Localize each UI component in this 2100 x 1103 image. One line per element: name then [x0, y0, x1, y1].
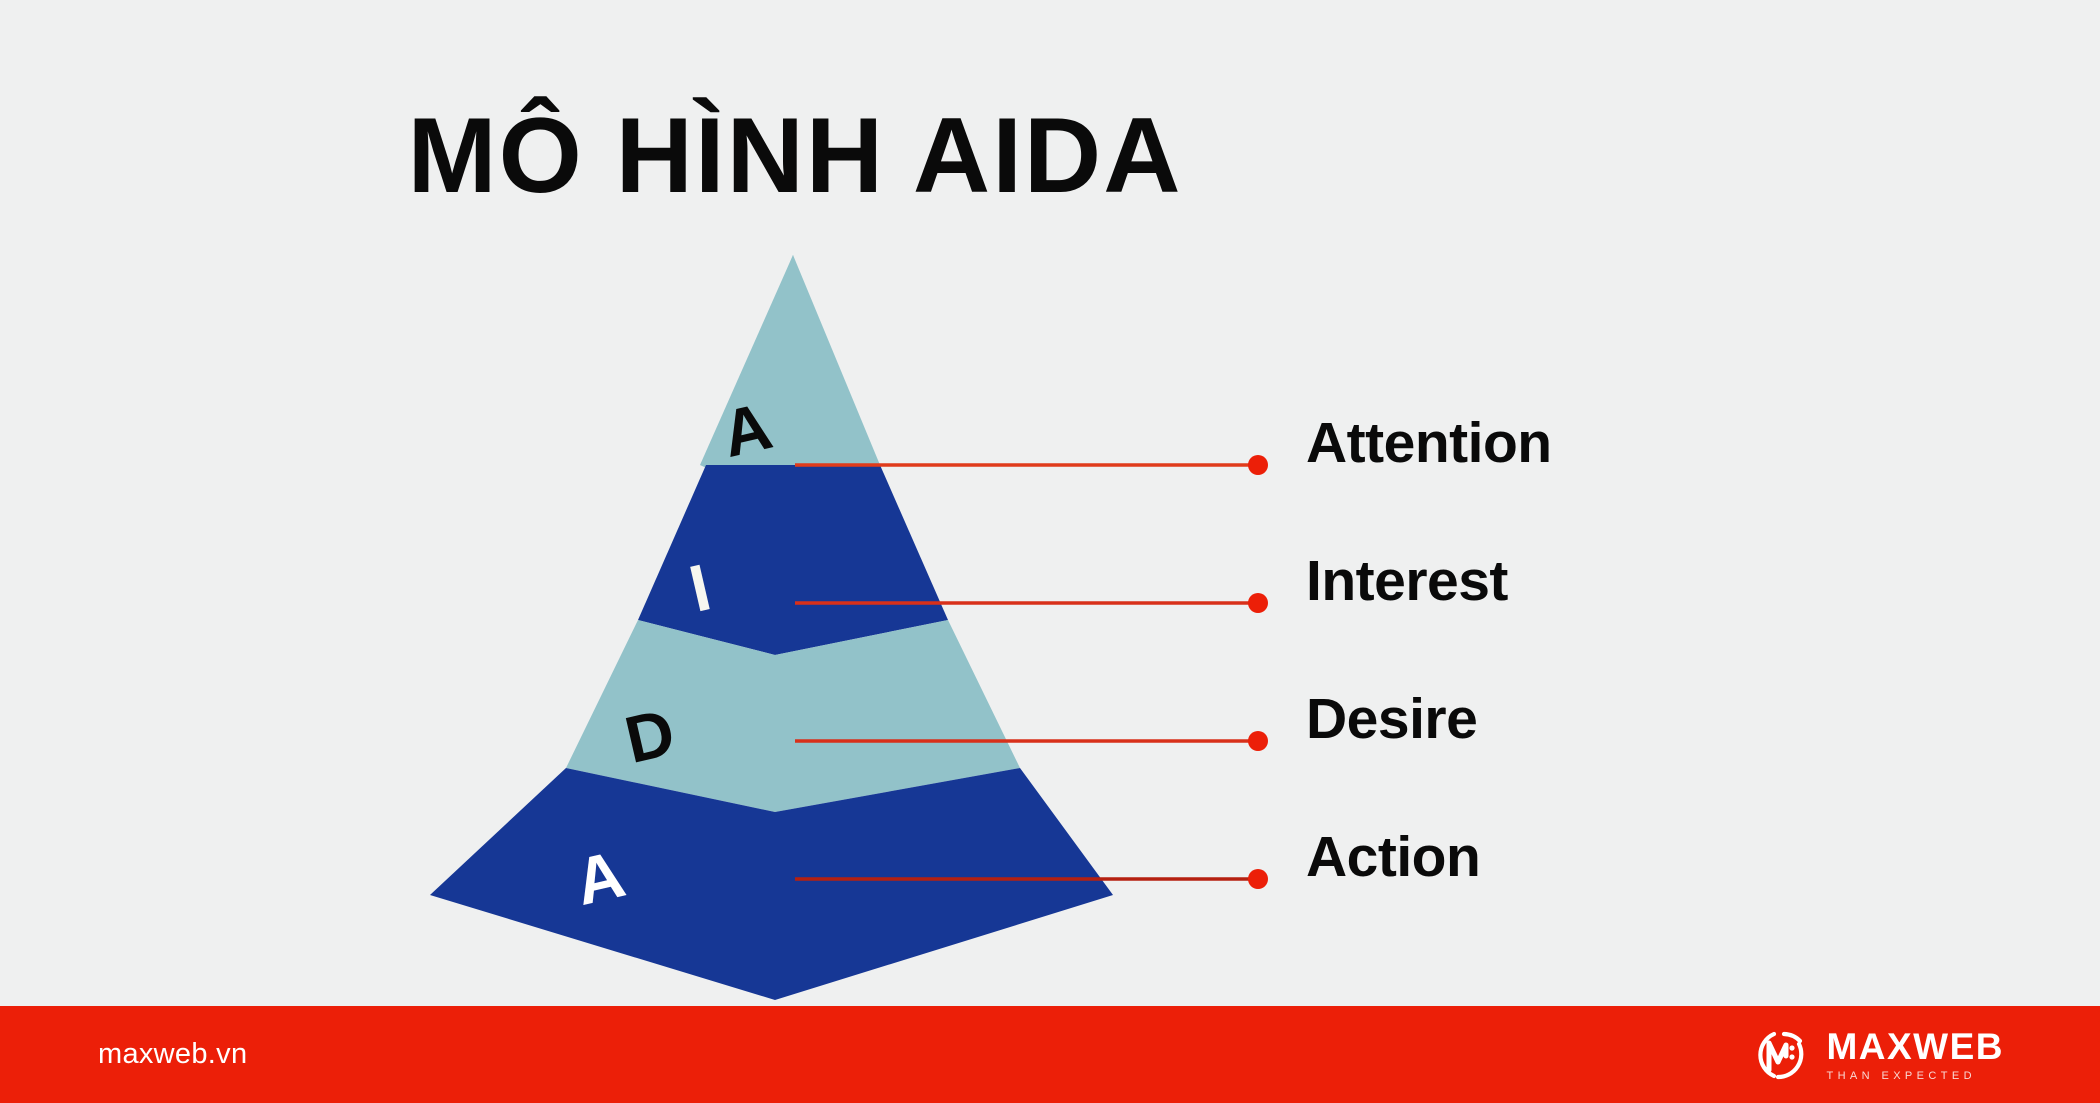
stage-label-action: Action — [1306, 824, 1480, 890]
stage-label-attention: Attention — [1306, 410, 1552, 476]
poster-canvas: MÔ HÌNH AIDA A I D A — [0, 0, 2100, 1103]
aida-pyramid: A I D A — [0, 0, 2100, 1010]
stage-label-interest: Interest — [1306, 548, 1508, 614]
footer-bar: maxweb.vn MAXWEB THAN EXPECTED — [0, 1006, 2100, 1103]
maxweb-mark-icon — [1754, 1026, 1812, 1084]
maxweb-logo[interactable]: MAXWEB THAN EXPECTED — [1754, 1026, 2004, 1084]
brand-name-text: MAXWEB — [1826, 1028, 2004, 1065]
stage-label-desire: Desire — [1306, 686, 1477, 752]
footer-domain-text[interactable]: maxweb.vn — [98, 1038, 247, 1071]
brand-tagline-text: THAN EXPECTED — [1826, 1070, 1976, 1082]
